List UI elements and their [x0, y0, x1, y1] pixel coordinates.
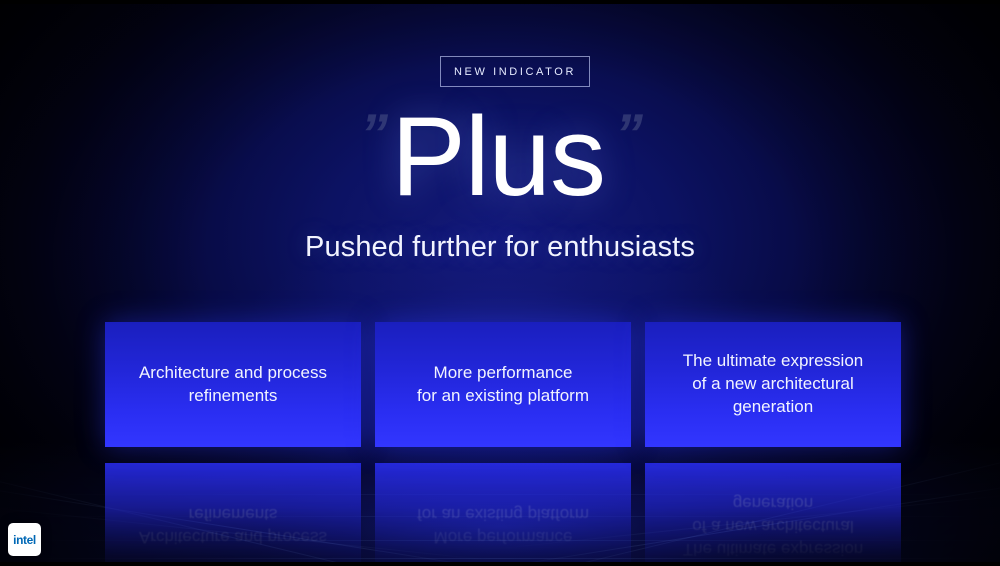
quote-mark-open: ”: [360, 106, 385, 162]
feature-card-group: Architecture and process refinements Mor…: [105, 322, 902, 447]
floor-line-horizontal: [0, 494, 1000, 495]
headline-group: ” Plus ”: [0, 100, 1000, 214]
floor-line-horizontal: [0, 540, 1000, 541]
floor-line-diagonal-right: [460, 447, 1000, 562]
card-reflection: Architecture and process refinements: [105, 463, 361, 562]
card-reflection: More performance for an existing platfor…: [375, 463, 631, 562]
feature-card-text: Architecture and process refinements: [125, 362, 341, 408]
card-reflection: The ultimate expression of a new archite…: [645, 463, 901, 562]
feature-card[interactable]: More performance for an existing platfor…: [375, 322, 631, 447]
page-subtitle: Pushed further for enthusiasts: [0, 231, 1000, 264]
new-indicator-badge: NEW INDICATOR: [440, 56, 590, 87]
feature-card-text: The ultimate expression of a new archite…: [669, 350, 877, 419]
card-reflection-text: The ultimate expression of a new archite…: [669, 491, 877, 560]
floor-plane: [0, 442, 1000, 562]
floor-line-horizontal: [0, 516, 1000, 517]
feature-card-text: More performance for an existing platfor…: [403, 362, 603, 408]
feature-card[interactable]: Architecture and process refinements: [105, 322, 361, 447]
quote-mark-close: ”: [615, 106, 640, 162]
floor-line-diagonal-right: [480, 482, 1000, 562]
badge-label: NEW INDICATOR: [454, 66, 576, 78]
intel-logo-text: intel: [13, 533, 36, 547]
page-title: Plus: [391, 100, 605, 214]
vignette-overlay: [0, 4, 1000, 562]
presentation-slide: Architecture and process refinements Mor…: [0, 0, 1000, 566]
floor-line-diagonal-left: [0, 462, 523, 562]
letterbox-bar-bottom: [0, 562, 1000, 566]
floor-line-diagonal-left: [0, 484, 513, 562]
floor-glow: [160, 452, 840, 562]
floor-line-diagonal-left: [0, 506, 497, 561]
intel-logo: intel: [8, 523, 41, 556]
card-reflection-group: Architecture and process refinements Mor…: [105, 463, 902, 562]
card-reflection-text: Architecture and process refinements: [125, 503, 341, 549]
slide-stage: Architecture and process refinements Mor…: [0, 4, 1000, 562]
feature-card[interactable]: The ultimate expression of a new archite…: [645, 322, 901, 447]
letterbox-bar-top: [0, 0, 1000, 4]
floor-line-diagonal-right: [500, 494, 1000, 549]
card-reflection-text: More performance for an existing platfor…: [403, 503, 603, 549]
floor-line-horizontal: [0, 558, 1000, 559]
